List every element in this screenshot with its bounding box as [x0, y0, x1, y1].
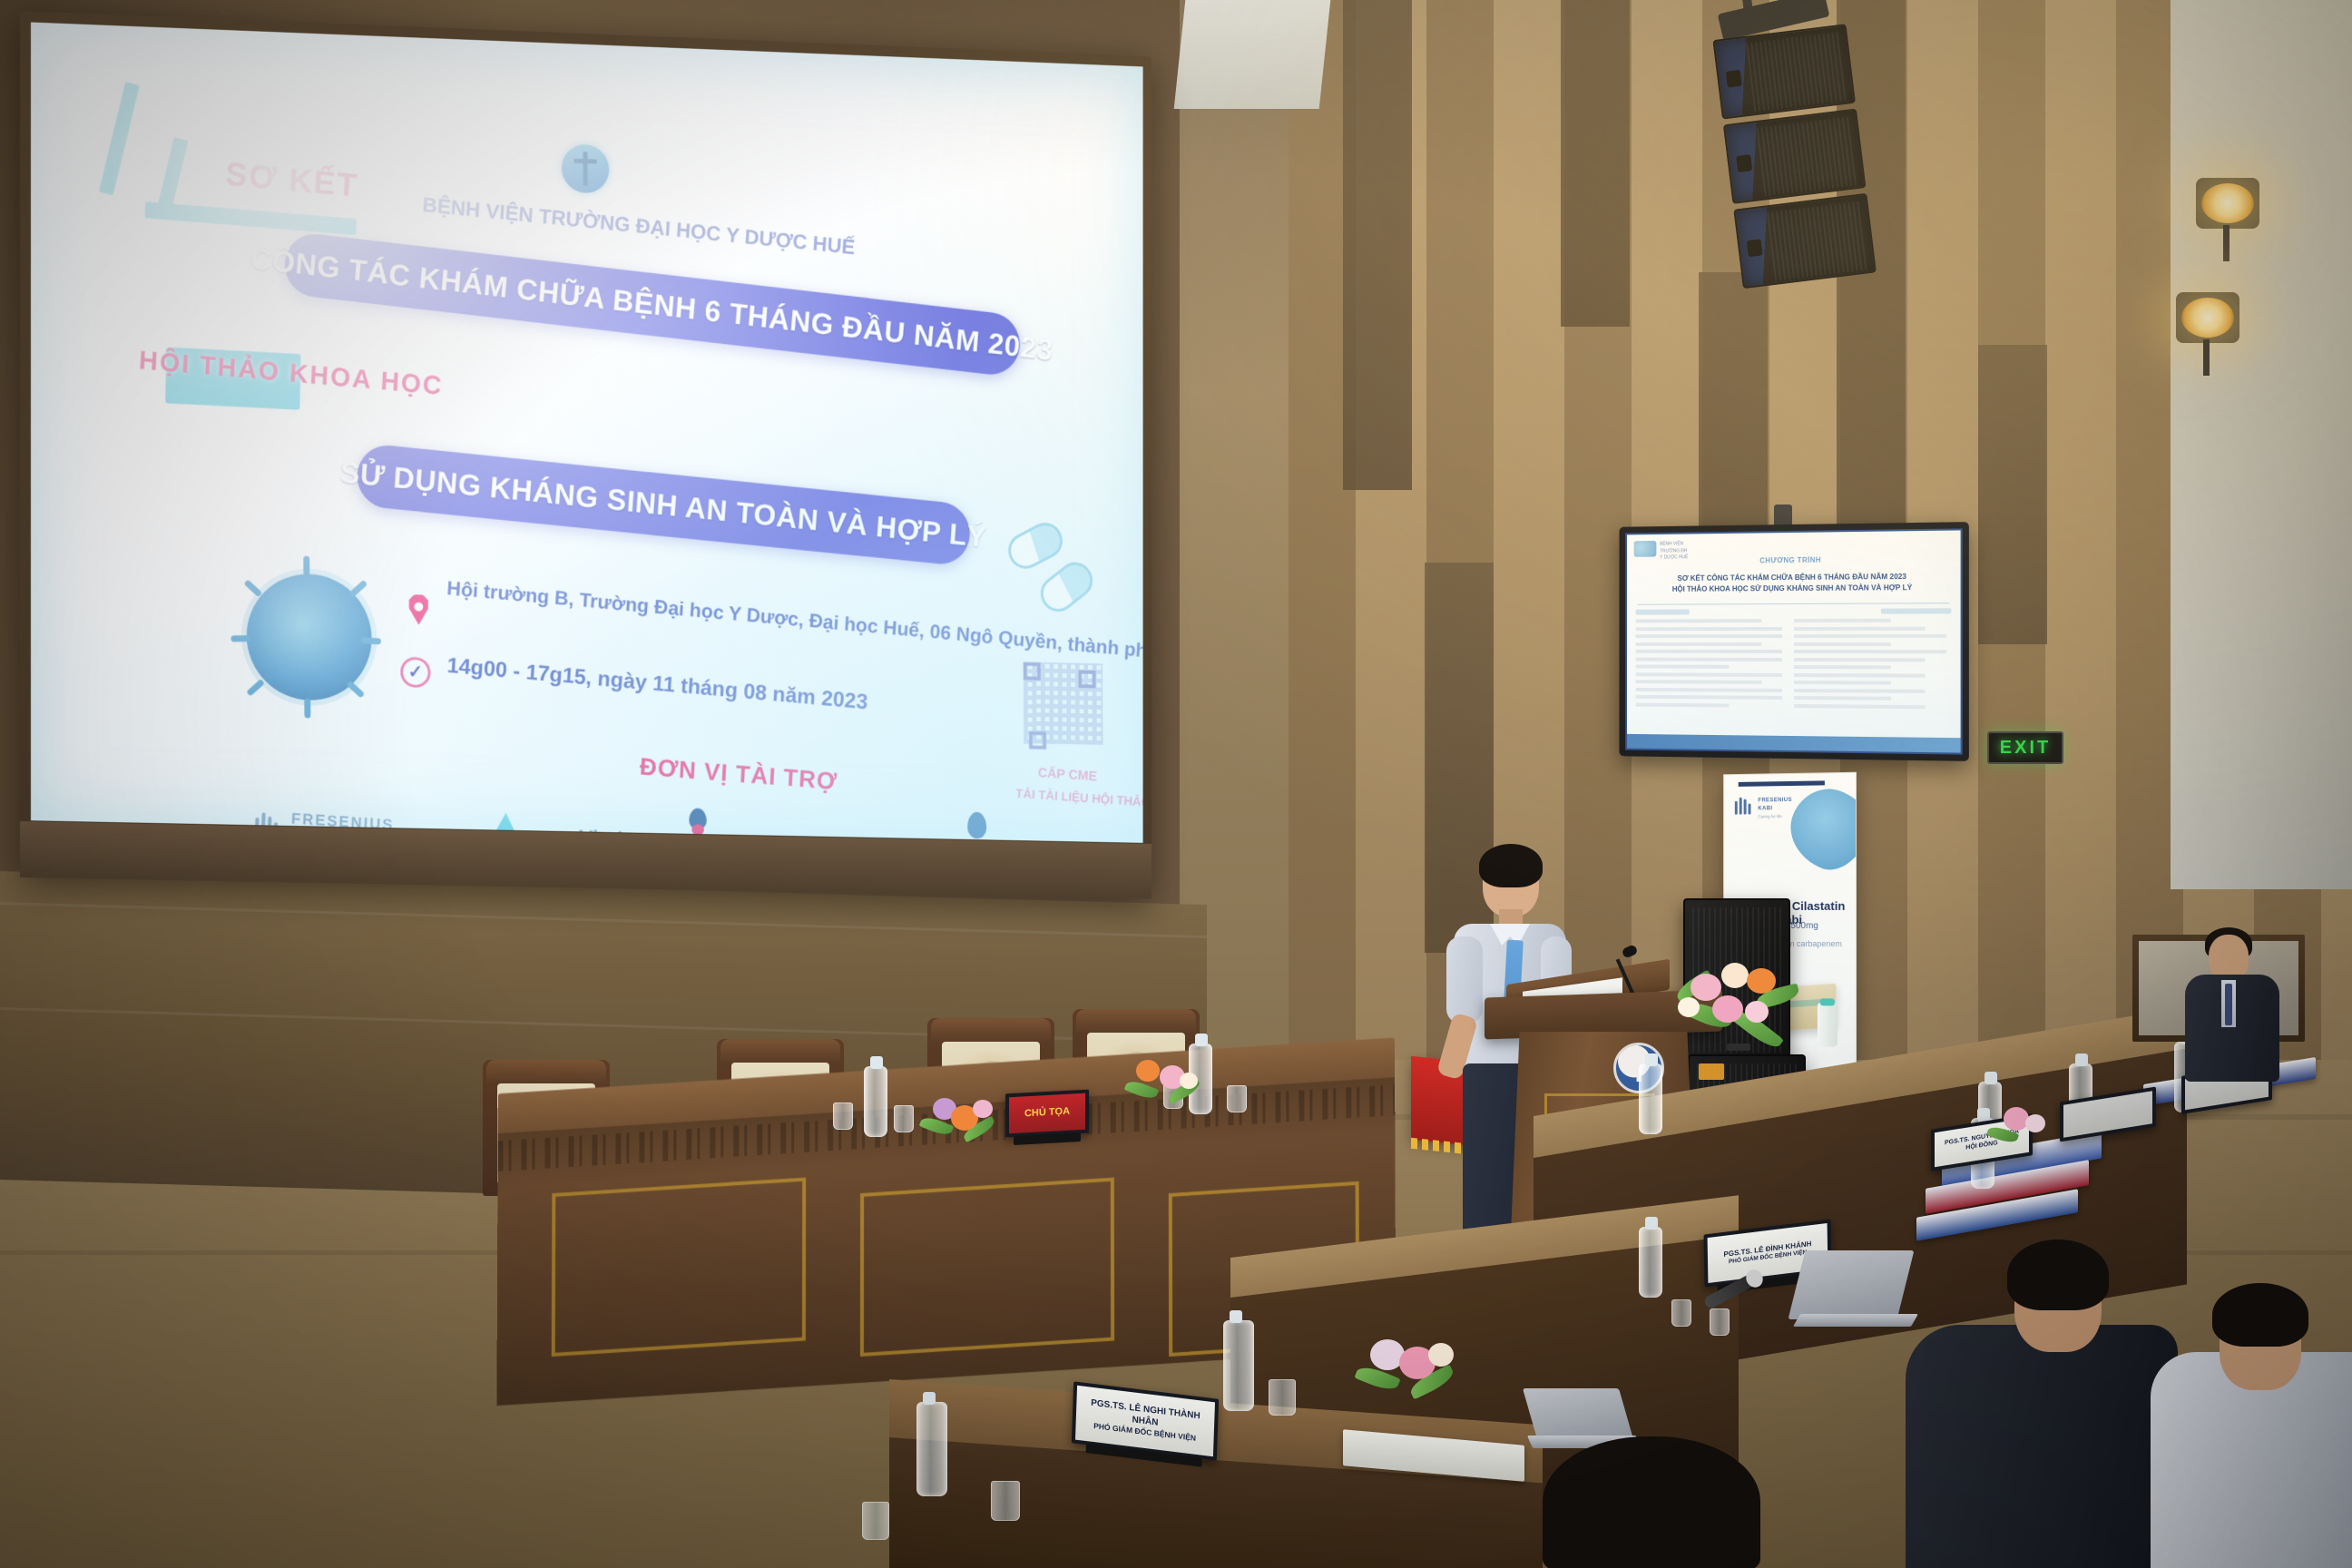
drinking-glass-front-2 — [991, 1481, 1020, 1521]
drinking-glass-ht-1 — [833, 1102, 853, 1130]
monitor-hospital-logo-icon — [1634, 541, 1657, 557]
water-bottle-front-1 — [1223, 1320, 1254, 1411]
chairperson-nameplate-text: CHỦ TỌA — [1009, 1093, 1085, 1133]
drinking-glass-front-1 — [1269, 1379, 1296, 1416]
decor-bar-3 — [144, 201, 357, 235]
stage-light-lower — [2176, 292, 2239, 343]
rollup-tagline: Caring for life — [1758, 814, 1781, 818]
slide-title-primary: CÔNG TÁC KHÁM CHỮA BỆNH 6 THÁNG ĐẦU NĂM … — [282, 230, 1022, 377]
conference-hall-photo: SƠ KẾT HỘI THẢO KHOA HỌC BỆNH VIỆN TRƯỜN… — [0, 0, 2352, 1568]
capsule-illustration-2 — [1034, 555, 1100, 619]
virus-illustration — [246, 573, 372, 701]
monitor-divider — [1637, 603, 1949, 605]
slide-title-secondary: SỬ DỤNG KHÁNG SINH AN TOÀN VÀ HỢP LÝ — [355, 443, 972, 567]
drinking-glass-mid-2 — [1710, 1308, 1730, 1336]
flower-arrangement-ht-2 — [1123, 1053, 1210, 1112]
ceiling-edge — [1174, 0, 1331, 109]
badge-so-ket: SƠ KẾT — [225, 155, 360, 205]
monitor-agenda-table — [1636, 608, 1952, 734]
monitor-agenda-col-right — [1794, 608, 1951, 734]
monitor-title-line2: HỘI THẢO KHOA HỌC SỬ DỤNG KHÁNG SINH AN … — [1672, 583, 1912, 593]
monitor-agenda-col-left — [1636, 609, 1788, 732]
water-bottle-front-2 — [916, 1402, 947, 1496]
head-table-panel-2 — [860, 1178, 1114, 1357]
qr-eye-bl — [1029, 731, 1046, 750]
flower-arrangement-ht-1 — [918, 1089, 1005, 1149]
drinking-glass-ht-4 — [1227, 1085, 1247, 1112]
slide-datetime: 14g00 - 17g15, ngày 11 tháng 08 năm 2023 — [446, 653, 868, 715]
projection-screen: SƠ KẾT HỘI THẢO KHOA HỌC BỆNH VIỆN TRƯỜN… — [31, 22, 1143, 842]
drinking-glass-front-3 — [862, 1502, 889, 1540]
drinking-glass-ht-2 — [894, 1105, 914, 1132]
water-bottle-mid-1 — [1639, 1227, 1662, 1298]
location-pin-icon — [407, 594, 430, 625]
sponsor-vietcombank-mark — [967, 812, 986, 839]
stage-light-upper — [2196, 178, 2259, 229]
chairperson-nameplate: CHỦ TỌA — [1005, 1090, 1089, 1138]
monitor-title: SƠ KẾT CÔNG TÁC KHÁM CHỮA BỆNH 6 THÁNG Đ… — [1639, 572, 1947, 595]
gloved-hand-image — [1779, 779, 1857, 880]
drinking-glass-mid-1 — [1671, 1299, 1691, 1327]
podium-flower-arrangement — [1674, 957, 1810, 1066]
monitor-footer-bar — [1627, 734, 1961, 753]
fresenius-kabi-logo-icon — [1735, 797, 1755, 815]
qr-eye-tr — [1078, 671, 1095, 689]
head-table-panel-1 — [552, 1178, 806, 1357]
rollup-top-bar — [1739, 780, 1825, 787]
rollup-brand: FRESENIUSKABI — [1758, 797, 1792, 813]
right-wall-white — [2171, 0, 2352, 889]
sponsor-vietinbank-mark — [689, 808, 706, 830]
qr-eye-tl — [1024, 662, 1041, 681]
flower-arrangement-front — [1352, 1327, 1470, 1408]
flower-arrangement-mid — [1987, 1100, 2074, 1160]
product-vial-image — [1818, 1003, 1837, 1046]
wall-monitor: BỆNH VIỆNTRƯỜNG ĐHY DƯỢC HUẾ CHƯƠNG TRÌN… — [1620, 522, 1969, 761]
hospital-name: BỆNH VIỆN TRƯỜNG ĐẠI HỌC Y DƯỢC HUẾ — [422, 192, 856, 260]
qr-caption-cme: CẤP CME — [1037, 765, 1097, 784]
monitor-screen: BỆNH VIỆNTRƯỜNG ĐHY DƯỢC HUẾ CHƯƠNG TRÌN… — [1625, 528, 1963, 754]
hospital-logo-icon — [562, 144, 610, 194]
slide-location: Hội trường B, Trường Đại học Y Dược, Đại… — [446, 576, 1143, 667]
sponsor-heading: ĐƠN VỊ TÀI TRỢ — [639, 753, 838, 796]
capsule-illustration-1 — [1002, 516, 1068, 574]
seated-person-right — [2178, 927, 2314, 1091]
qr-caption-docs: TẢI TÀI LIỆU HỘI THẢO — [1015, 786, 1143, 809]
foreground-person-head-1 — [1543, 1420, 1842, 1568]
foreground-person-3 — [2132, 1289, 2352, 1568]
decor-bar-1 — [99, 82, 140, 195]
exit-sign: EXIT — [1987, 731, 2063, 764]
projection-screen-frame: SƠ KẾT HỘI THẢO KHOA HỌC BỆNH VIỆN TRƯỜN… — [20, 11, 1151, 898]
water-bottle-front-3 — [1639, 1063, 1662, 1134]
water-bottle-ht-1 — [864, 1066, 887, 1137]
clock-check-icon — [400, 657, 431, 688]
monitor-title-line1: SƠ KẾT CÔNG TÁC KHÁM CHỮA BỆNH 6 THÁNG Đ… — [1678, 573, 1906, 583]
